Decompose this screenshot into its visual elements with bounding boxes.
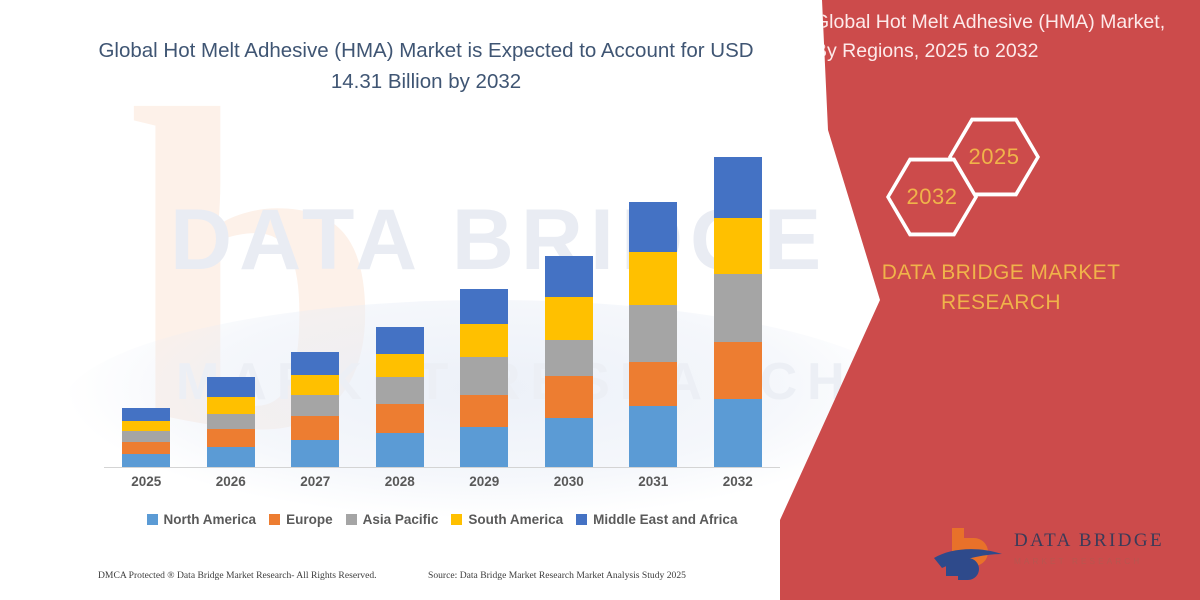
- chart-legend: North AmericaEuropeAsia PacificSouth Ame…: [104, 512, 780, 527]
- bar-segment: [629, 202, 677, 252]
- bar-segment: [291, 352, 339, 375]
- bar-segment: [460, 427, 508, 467]
- bars-container: [104, 141, 780, 467]
- footer-dmca-text: DMCA Protected ® Data Bridge Market Rese…: [98, 570, 377, 581]
- bar-segment: [460, 395, 508, 427]
- stacked-bar-chart: [104, 140, 780, 468]
- x-axis-tick: 2028: [358, 474, 443, 489]
- bar-segment: [207, 414, 255, 429]
- bar-segment: [291, 440, 339, 467]
- legend-swatch-icon: [269, 514, 280, 525]
- panel-brand-text: DATA BRIDGE MARKET RESEARCH: [780, 258, 1200, 319]
- bar-segment: [376, 404, 424, 433]
- hexagon-group: 2025 2032: [780, 112, 1200, 232]
- bar-segment: [207, 397, 255, 414]
- x-axis-tick: 2030: [527, 474, 612, 489]
- stacked-bar: [545, 256, 593, 467]
- bar-column: [273, 141, 358, 467]
- bar-segment: [207, 447, 255, 467]
- right-red-panel: Global Hot Melt Adhesive (HMA) Market, B…: [780, 0, 1200, 600]
- bar-segment: [207, 429, 255, 447]
- bar-segment: [291, 395, 339, 416]
- bar-segment: [122, 431, 170, 441]
- legend-label: Asia Pacific: [363, 512, 439, 527]
- legend-item[interactable]: Europe: [269, 512, 333, 527]
- legend-swatch-icon: [576, 514, 587, 525]
- bar-column: [696, 141, 781, 467]
- bar-segment: [545, 256, 593, 297]
- legend-item[interactable]: North America: [147, 512, 257, 527]
- bar-column: [611, 141, 696, 467]
- bar-segment: [545, 340, 593, 376]
- bar-column: [104, 141, 189, 467]
- bar-segment: [629, 252, 677, 305]
- bar-segment: [376, 433, 424, 467]
- bar-segment: [376, 354, 424, 377]
- bar-column: [527, 141, 612, 467]
- stacked-bar: [376, 327, 424, 467]
- x-axis-tick: 2029: [442, 474, 527, 489]
- x-axis-line: [104, 467, 780, 468]
- footer: DMCA Protected ® Data Bridge Market Rese…: [0, 568, 800, 594]
- legend-swatch-icon: [451, 514, 462, 525]
- bar-segment: [207, 377, 255, 397]
- footer-source-text: Source: Data Bridge Market Research Mark…: [428, 570, 686, 581]
- data-bridge-logo: DATA BRIDGE MARKET RESEARCH: [932, 522, 1182, 584]
- hexagon-end-year-label: 2032: [907, 184, 958, 210]
- bar-segment: [629, 305, 677, 362]
- bar-segment: [122, 442, 170, 454]
- legend-label: North America: [164, 512, 257, 527]
- x-axis-tick: 2032: [696, 474, 781, 489]
- page-title: Global Hot Melt Adhesive (HMA) Market is…: [70, 36, 782, 98]
- bar-segment: [376, 377, 424, 404]
- bar-column: [442, 141, 527, 467]
- stacked-bar: [291, 352, 339, 467]
- bar-segment: [122, 454, 170, 467]
- bar-segment: [714, 274, 762, 342]
- bar-segment: [714, 399, 762, 467]
- bar-segment: [460, 289, 508, 324]
- bar-segment: [291, 416, 339, 440]
- legend-label: Middle East and Africa: [593, 512, 737, 527]
- stacked-bar: [207, 377, 255, 467]
- stacked-bar: [122, 408, 170, 467]
- legend-swatch-icon: [147, 514, 158, 525]
- bar-segment: [291, 375, 339, 395]
- stacked-bar: [714, 157, 762, 467]
- bar-segment: [714, 157, 762, 218]
- bar-segment: [545, 376, 593, 418]
- legend-item[interactable]: South America: [451, 512, 563, 527]
- bar-segment: [545, 297, 593, 340]
- legend-swatch-icon: [346, 514, 357, 525]
- x-axis-tick: 2031: [611, 474, 696, 489]
- infographic-canvas: b DATA BRIDGE MARKET RESEARCH Global Hot…: [0, 0, 1200, 600]
- bar-segment: [714, 342, 762, 399]
- panel-title: Global Hot Melt Adhesive (HMA) Market, B…: [780, 8, 1200, 67]
- bar-segment: [714, 218, 762, 275]
- bar-segment: [122, 421, 170, 431]
- logo-b-icon: [932, 524, 1006, 580]
- bar-segment: [122, 408, 170, 421]
- x-axis-tick: 2025: [104, 474, 189, 489]
- x-axis-tick: 2026: [189, 474, 274, 489]
- bar-column: [358, 141, 443, 467]
- bar-segment: [629, 362, 677, 406]
- bar-segment: [629, 406, 677, 467]
- bar-segment: [376, 327, 424, 354]
- legend-label: Europe: [286, 512, 333, 527]
- bar-segment: [545, 418, 593, 467]
- legend-item[interactable]: Middle East and Africa: [576, 512, 737, 527]
- logo-name: DATA BRIDGE: [1014, 530, 1164, 552]
- x-axis-tick: 2027: [273, 474, 358, 489]
- hexagon-end-year: 2032: [886, 156, 978, 238]
- bar-segment: [460, 324, 508, 357]
- x-axis-labels: 20252026202720282029203020312032: [104, 474, 780, 489]
- logo-text: DATA BRIDGE MARKET RESEARCH: [1014, 530, 1164, 566]
- hexagon-start-year-label: 2025: [969, 144, 1020, 170]
- bar-column: [189, 141, 274, 467]
- legend-label: South America: [468, 512, 563, 527]
- stacked-bar: [629, 202, 677, 467]
- logo-subtitle: MARKET RESEARCH: [1014, 557, 1164, 566]
- legend-item[interactable]: Asia Pacific: [346, 512, 439, 527]
- bar-segment: [460, 357, 508, 395]
- stacked-bar: [460, 289, 508, 467]
